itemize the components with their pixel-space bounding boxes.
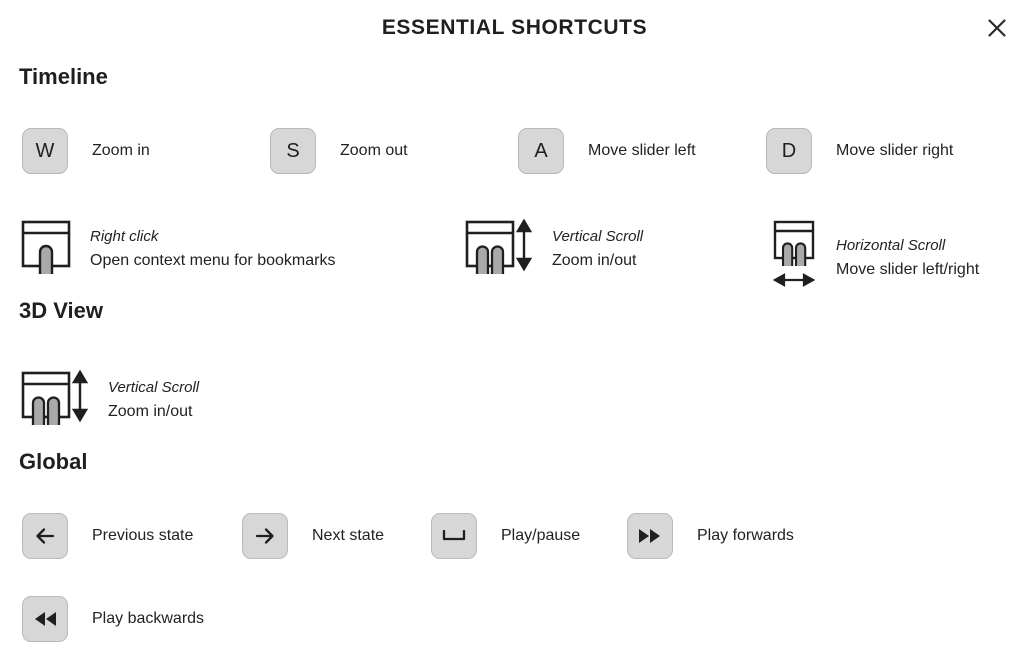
section-title-3d-view: 3D View bbox=[19, 298, 103, 324]
arrow-left-icon bbox=[33, 524, 57, 548]
trackpad-two-finger-horizontal-scroll-icon bbox=[770, 218, 822, 299]
shortcut-label: Move slider left bbox=[588, 142, 696, 160]
shortcut-entry-play-forwards[interactable]: Play forwards bbox=[627, 513, 794, 559]
shortcut-label: Zoom out bbox=[340, 142, 408, 160]
pointer-action: Vertical Scroll bbox=[108, 376, 199, 400]
trackpad-two-finger-vertical-scroll-icon bbox=[464, 218, 538, 281]
shortcut-entry-previous-state[interactable]: Previous state bbox=[22, 513, 193, 559]
shortcut-label: Play backwards bbox=[92, 610, 204, 628]
keycap-label: D bbox=[782, 141, 796, 161]
shortcut-entry-play-pause[interactable]: Play/pause bbox=[431, 513, 580, 559]
pointer-text: Vertical Scroll Zoom in/out bbox=[108, 376, 199, 425]
shortcut-label: Zoom in bbox=[92, 142, 150, 160]
keycap-d[interactable]: D bbox=[766, 128, 812, 174]
shortcut-entry-zoom-out[interactable]: S Zoom out bbox=[270, 128, 408, 174]
pointer-action: Vertical Scroll bbox=[552, 225, 643, 249]
essential-shortcuts-dialog: ESSENTIAL SHORTCUTS Timeline W Zoom in S bbox=[0, 0, 1029, 665]
pointer-description: Open context menu for bookmarks bbox=[90, 249, 335, 274]
pointer-description: Zoom in/out bbox=[108, 400, 199, 425]
keycap-w[interactable]: W bbox=[22, 128, 68, 174]
pointer-entry-vertical-scroll[interactable]: Vertical Scroll Zoom in/out bbox=[464, 218, 643, 281]
pointer-text: Vertical Scroll Zoom in/out bbox=[552, 225, 643, 274]
page-title: ESSENTIAL SHORTCUTS bbox=[382, 16, 647, 40]
shortcut-label: Move slider right bbox=[836, 142, 953, 160]
keycap-arrow-left[interactable] bbox=[22, 513, 68, 559]
shortcut-entry-move-slider-right[interactable]: D Move slider right bbox=[766, 128, 953, 174]
keycap-rewind[interactable] bbox=[22, 596, 68, 642]
shortcut-entry-move-slider-left[interactable]: A Move slider left bbox=[518, 128, 696, 174]
arrow-right-icon bbox=[253, 524, 277, 548]
pointer-action: Right click bbox=[90, 225, 335, 249]
pointer-entry-right-click[interactable]: Right click Open context menu for bookma… bbox=[20, 218, 335, 281]
section-title-global: Global bbox=[19, 449, 87, 475]
spacebar-icon bbox=[441, 527, 467, 545]
pointer-entry-horizontal-scroll[interactable]: Horizontal Scroll Move slider left/right bbox=[770, 218, 979, 299]
trackpad-two-finger-vertical-scroll-icon bbox=[20, 369, 94, 432]
keycap-a[interactable]: A bbox=[518, 128, 564, 174]
keycap-label: S bbox=[286, 141, 299, 161]
shortcut-label: Play/pause bbox=[501, 527, 580, 545]
pointer-description: Zoom in/out bbox=[552, 249, 643, 274]
pointer-action: Horizontal Scroll bbox=[836, 234, 979, 258]
pointer-text: Right click Open context menu for bookma… bbox=[90, 225, 335, 274]
close-icon bbox=[986, 17, 1008, 39]
fast-forward-icon bbox=[636, 526, 664, 546]
keycap-spacebar[interactable] bbox=[431, 513, 477, 559]
trackpad-one-finger-icon bbox=[20, 218, 76, 281]
dialog-header: ESSENTIAL SHORTCUTS bbox=[0, 0, 1029, 56]
pointer-entry-3d-vertical-scroll[interactable]: Vertical Scroll Zoom in/out bbox=[20, 369, 199, 432]
pointer-text: Horizontal Scroll Move slider left/right bbox=[836, 234, 979, 283]
keycap-label: A bbox=[534, 141, 547, 161]
shortcut-label: Play forwards bbox=[697, 527, 794, 545]
keycap-fast-forward[interactable] bbox=[627, 513, 673, 559]
pointer-description: Move slider left/right bbox=[836, 258, 979, 283]
shortcut-entry-play-backwards[interactable]: Play backwards bbox=[22, 596, 204, 642]
section-title-timeline: Timeline bbox=[19, 64, 108, 90]
keycap-s[interactable]: S bbox=[270, 128, 316, 174]
shortcut-entry-next-state[interactable]: Next state bbox=[242, 513, 384, 559]
rewind-icon bbox=[31, 609, 59, 629]
keycap-label: W bbox=[36, 141, 55, 161]
shortcut-entry-zoom-in[interactable]: W Zoom in bbox=[22, 128, 150, 174]
shortcut-label: Previous state bbox=[92, 527, 193, 545]
keycap-arrow-right[interactable] bbox=[242, 513, 288, 559]
shortcut-label: Next state bbox=[312, 527, 384, 545]
close-button[interactable] bbox=[979, 10, 1015, 46]
